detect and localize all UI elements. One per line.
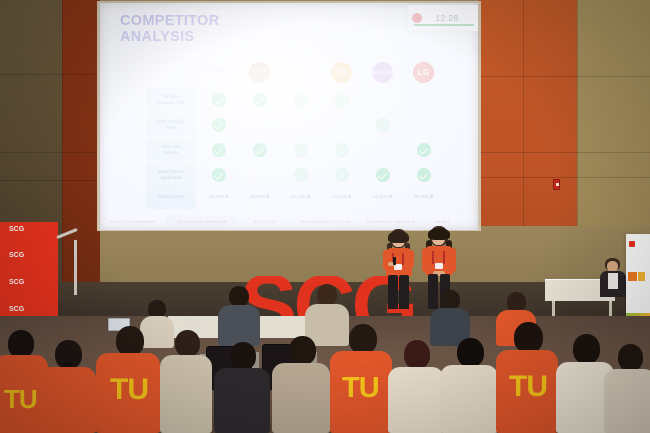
price-value: 18,000 ฿ — [332, 195, 352, 200]
shirt-text: TU — [342, 372, 379, 405]
timer-value: 12:28 — [435, 13, 458, 23]
cell — [403, 118, 444, 132]
audience-member-tu: TU — [496, 322, 558, 433]
check-icon — [212, 143, 226, 157]
fire-alarm-icon — [553, 179, 560, 190]
cell — [362, 93, 403, 107]
check-icon — [212, 168, 226, 182]
cell — [198, 118, 239, 132]
table-row: Smart phone Application — [146, 162, 446, 187]
cell — [239, 118, 280, 132]
cell — [321, 168, 362, 182]
feature-label: After Sale Service — [146, 138, 196, 161]
wall-seam — [0, 152, 100, 153]
nav-tab-strategy[interactable]: STRATEGY — [238, 216, 292, 227]
check-icon — [212, 118, 226, 132]
timer-record-icon — [412, 13, 422, 23]
wall-seam — [478, 152, 650, 153]
cell: 18,900 ฿ — [198, 195, 239, 200]
audience-member — [604, 344, 650, 433]
check-icon — [376, 168, 390, 182]
cell — [362, 168, 403, 182]
cell — [198, 143, 239, 157]
competitor-col-1: OHM — [198, 62, 239, 83]
shirt-text: TU — [509, 370, 547, 404]
cell — [321, 118, 362, 132]
left-scg-banner: SCG SCG SCG SCG — [0, 222, 58, 330]
audience-member — [218, 286, 260, 346]
slide-title: COMPETITOR ANALYSIS — [120, 13, 219, 45]
projector-screen[interactable]: COMPETITOR ANALYSIS 12:28 OHM CAP+ ◗ — [100, 3, 478, 230]
price-value: 18,900 ฿ — [209, 195, 229, 200]
microphone-icon — [393, 257, 396, 265]
nav-tab-impact[interactable]: IMPACT — [422, 216, 462, 227]
check-icon — [294, 168, 308, 182]
timer-progress-bar — [414, 24, 474, 26]
audience-member — [38, 340, 96, 433]
wall-seam — [478, 76, 650, 77]
check-icon — [335, 168, 349, 182]
wall-panel-right-orange — [478, 0, 577, 226]
table-row: ECO Friendly Filter — [146, 112, 446, 137]
scg-logo-text: SCG — [9, 226, 24, 233]
cell — [239, 143, 280, 157]
feature-label: Smart phone Application — [146, 163, 196, 186]
competitor-col-3: ◗ — [280, 62, 321, 83]
scg-logo-text: SCG — [9, 306, 24, 313]
table-row: After Sale Service — [146, 137, 446, 162]
handrail-post — [74, 240, 77, 295]
feature-label-line2: Application — [160, 175, 183, 181]
audience-member-tu: TU — [96, 326, 160, 433]
check-icon — [294, 93, 308, 107]
cell: 10,000 ฿ — [362, 195, 403, 200]
cell: 28,900 ฿ — [239, 195, 280, 200]
feature-label-line2: Filter — [166, 125, 176, 131]
table-corner-cell — [146, 61, 196, 84]
cell — [280, 118, 321, 132]
brand-logo-sharp: ◗ — [290, 62, 311, 83]
cell — [321, 93, 362, 107]
check-icon — [294, 143, 308, 157]
cell — [321, 143, 362, 157]
audience-member — [272, 336, 330, 433]
wall-panel-right-tan — [577, 0, 650, 226]
cell — [280, 143, 321, 157]
audience-member — [214, 342, 270, 433]
presenter-left — [381, 229, 417, 309]
staff-member — [598, 258, 628, 304]
scg-logo-text: SCG — [9, 252, 24, 259]
brand-logo-mi: mi — [331, 62, 352, 83]
price-value: 25,200 ฿ — [291, 195, 311, 200]
cell: 18,000 ฿ — [321, 195, 362, 200]
cell — [198, 168, 239, 182]
check-icon — [417, 168, 431, 182]
brand-logo-ohm: OHM — [208, 62, 229, 83]
shirt-text: TU — [4, 384, 37, 415]
cell — [403, 143, 444, 157]
cell — [403, 93, 444, 107]
audience-member — [440, 338, 498, 433]
cell — [198, 93, 239, 107]
check-icon — [253, 143, 267, 157]
scg-logo-text: SCG — [9, 279, 24, 286]
nav-tab-situational-analysis[interactable]: SITUATIONAL ANALYSIS — [166, 216, 238, 227]
competitor-col-6: LG — [403, 62, 444, 83]
banner-mark-icon — [638, 272, 645, 281]
check-icon — [376, 118, 390, 132]
competitor-col-2: CAP+ — [239, 62, 280, 83]
cell: 25,200 ฿ — [280, 195, 321, 200]
audience-member — [160, 330, 212, 433]
wall-seam — [478, 177, 650, 178]
table-price-row: Starting Price 18,900 ฿ 28,900 ฿ 25,200 … — [146, 187, 446, 207]
nav-tab-executive-summary[interactable]: EXECUTIVE SUMMARY — [100, 216, 166, 227]
check-icon — [335, 93, 349, 107]
wall-seam — [577, 0, 578, 226]
cell — [239, 168, 280, 182]
price-value: 10,000 ฿ — [373, 195, 393, 200]
slide-title-line2: ANALYSIS — [120, 29, 219, 45]
cell — [280, 168, 321, 182]
banner-mark-icon — [628, 272, 637, 281]
table-header-row: OHM CAP+ ◗ mi BLUEAIR LG — [146, 57, 446, 87]
nav-tab-implementation-plan[interactable]: IMPLEMENTATION PLAN — [292, 216, 360, 227]
price-value: 28,900 ฿ — [250, 195, 270, 200]
cell — [403, 168, 444, 182]
slide-title-line1: COMPETITOR — [120, 13, 219, 29]
wall-seam — [523, 0, 524, 226]
cell — [362, 118, 403, 132]
feature-label-line2: Pressure Tech — [156, 100, 185, 106]
competitor-col-5: BLUEAIR — [362, 62, 403, 83]
wall-seam — [0, 74, 100, 75]
brand-logo-blueair: BLUEAIR — [372, 62, 393, 83]
competitor-col-4: mi — [321, 62, 362, 83]
audience-member-tu: TU — [330, 324, 392, 433]
cell: 10,000 ฿ — [403, 195, 444, 200]
nav-tab-feasibility-analysis[interactable]: FEASIBILITY ANALYSIS — [360, 216, 422, 227]
competitor-comparison-table: OHM CAP+ ◗ mi BLUEAIR LG — [146, 57, 446, 207]
shirt-text: TU — [110, 373, 148, 407]
wall-panel-left-red — [62, 0, 100, 300]
feature-label: Positive Pressure Tech — [146, 88, 196, 111]
check-icon — [335, 143, 349, 157]
cell — [280, 93, 321, 107]
wall-seam — [0, 180, 100, 181]
price-row-label: Starting Price — [146, 186, 196, 209]
cell — [239, 93, 280, 107]
banner-logo-icon — [629, 241, 635, 247]
feature-label-line2: Service — [163, 150, 178, 156]
check-icon — [417, 143, 431, 157]
price-value: 10,000 ฿ — [414, 195, 434, 200]
cell — [362, 143, 403, 157]
audience-member — [388, 340, 444, 433]
brand-logo-lg: LG — [413, 62, 434, 83]
check-icon — [212, 93, 226, 107]
brand-logo-cap: CAP+ — [249, 62, 270, 83]
table-row: Positive Pressure Tech — [146, 87, 446, 112]
wall-seam — [62, 0, 63, 300]
name-badge — [435, 263, 443, 269]
conference-room-scene: SCG SCG SCG SCG SCG COMPETITOR ANALYSIS … — [0, 0, 650, 433]
check-icon — [253, 93, 267, 107]
presentation-timer[interactable]: 12:28 — [408, 5, 478, 31]
feature-label: ECO Friendly Filter — [146, 113, 196, 136]
